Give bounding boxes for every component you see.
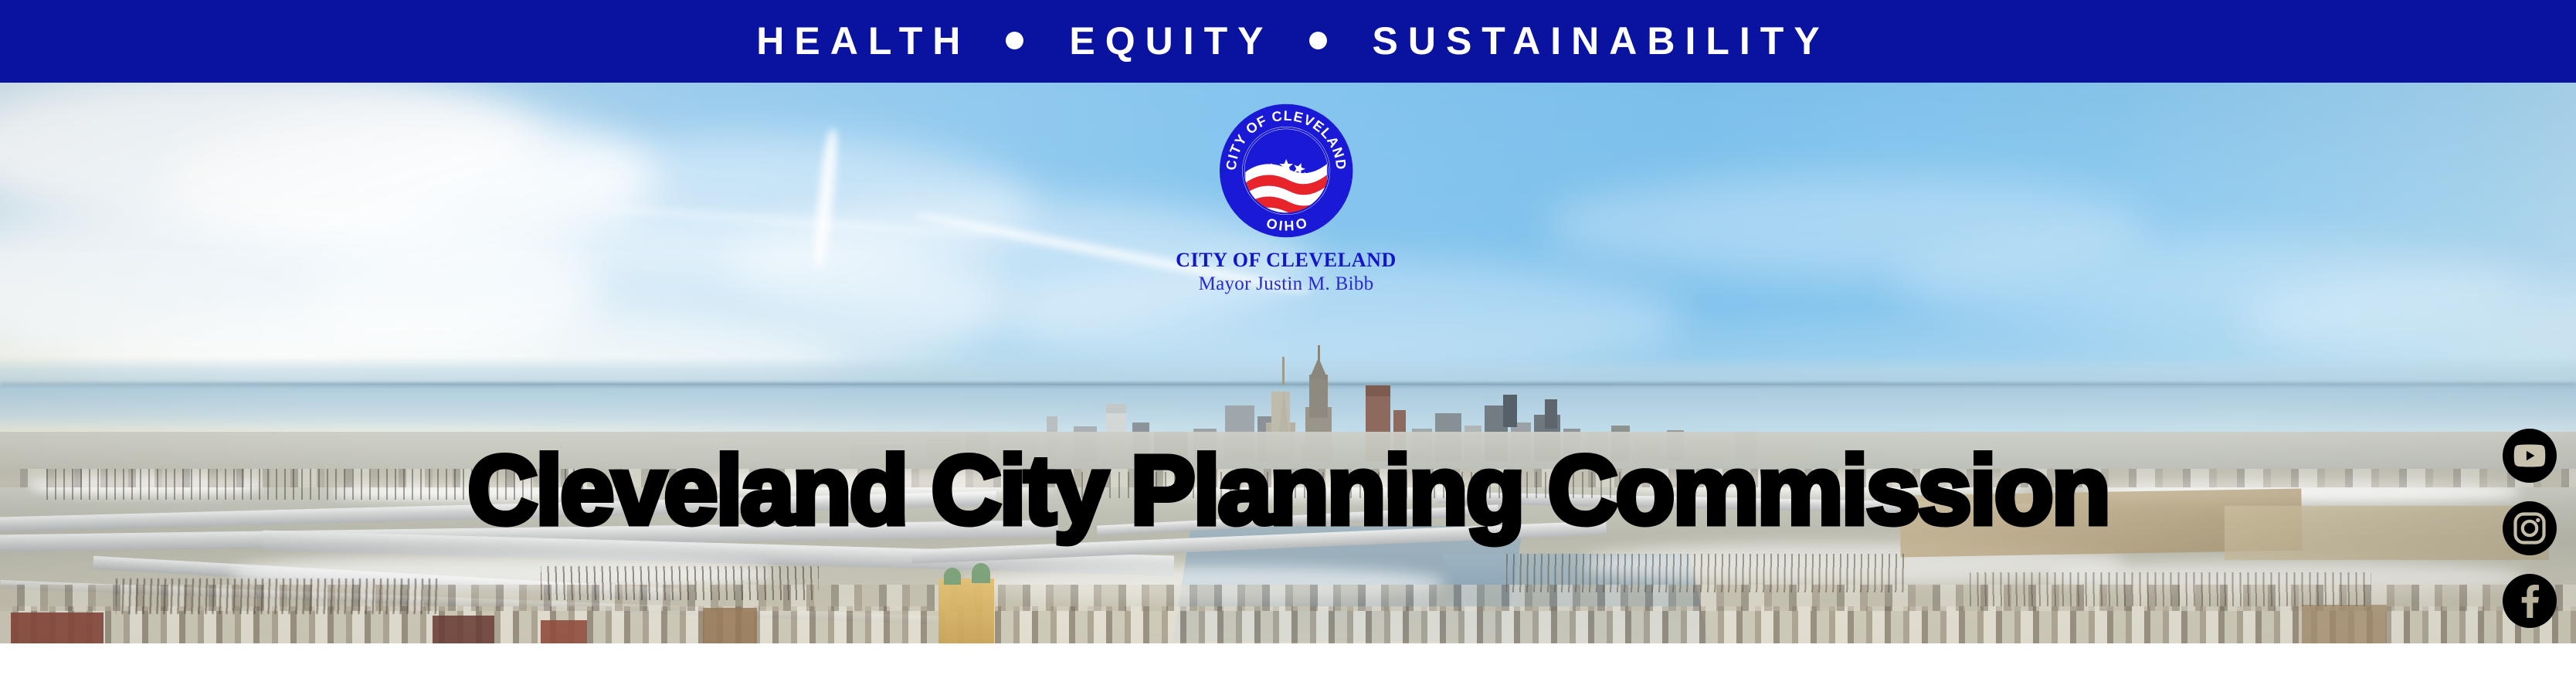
key-tower-mast	[1318, 345, 1320, 362]
bare-trees	[541, 566, 819, 600]
building	[1545, 399, 1557, 429]
bare-trees	[1970, 572, 2371, 606]
city-seal-icon: CITY OF CLEVELAND OHIO	[1218, 103, 1354, 239]
seal-mayor-name: Mayor Justin M. Bibb	[1176, 274, 1397, 294]
instagram-icon	[2513, 512, 2546, 545]
brick-building	[703, 608, 757, 643]
brick-building	[433, 616, 494, 643]
facebook-icon	[2520, 584, 2540, 618]
church-dome	[944, 568, 961, 585]
building	[1106, 404, 1126, 413]
building	[1366, 385, 1390, 396]
bare-trees	[1506, 554, 1908, 592]
bare-trees	[116, 579, 440, 614]
terminal-tower-mast	[1282, 357, 1285, 385]
banner-tagline: HEALTH EQUITY SUSTAINABILITY	[746, 22, 1829, 60]
brick-building	[2302, 605, 2387, 643]
youtube-icon	[2513, 444, 2546, 467]
terminal-tower-spire	[1278, 390, 1289, 436]
banner-word-equity: EQUITY	[1059, 22, 1273, 60]
seal-title: CITY OF CLEVELAND	[1176, 249, 1397, 270]
building	[1503, 395, 1517, 427]
banner-separator-dot-1	[1006, 32, 1023, 49]
social-links	[2503, 429, 2557, 628]
church-dome	[972, 563, 990, 583]
banner-word-health: HEALTH	[746, 22, 970, 60]
banner-word-sustainability: SUSTAINABILITY	[1363, 22, 1830, 60]
brick-building	[541, 620, 587, 643]
facebook-link[interactable]	[2503, 574, 2557, 628]
instagram-link[interactable]	[2503, 501, 2557, 555]
youtube-link[interactable]	[2503, 429, 2557, 483]
page-title: Cleveland City Planning Commission	[0, 442, 2576, 539]
banner-separator-dot-2	[1309, 32, 1327, 49]
top-banner: HEALTH EQUITY SUSTAINABILITY	[0, 0, 2576, 83]
city-of-cleveland-seal-block: CITY OF CLEVELAND OHIO	[1176, 103, 1397, 295]
church	[938, 579, 994, 643]
bottom-white-strip	[0, 643, 2576, 682]
key-tower	[1309, 375, 1328, 418]
brick-building	[11, 612, 104, 643]
